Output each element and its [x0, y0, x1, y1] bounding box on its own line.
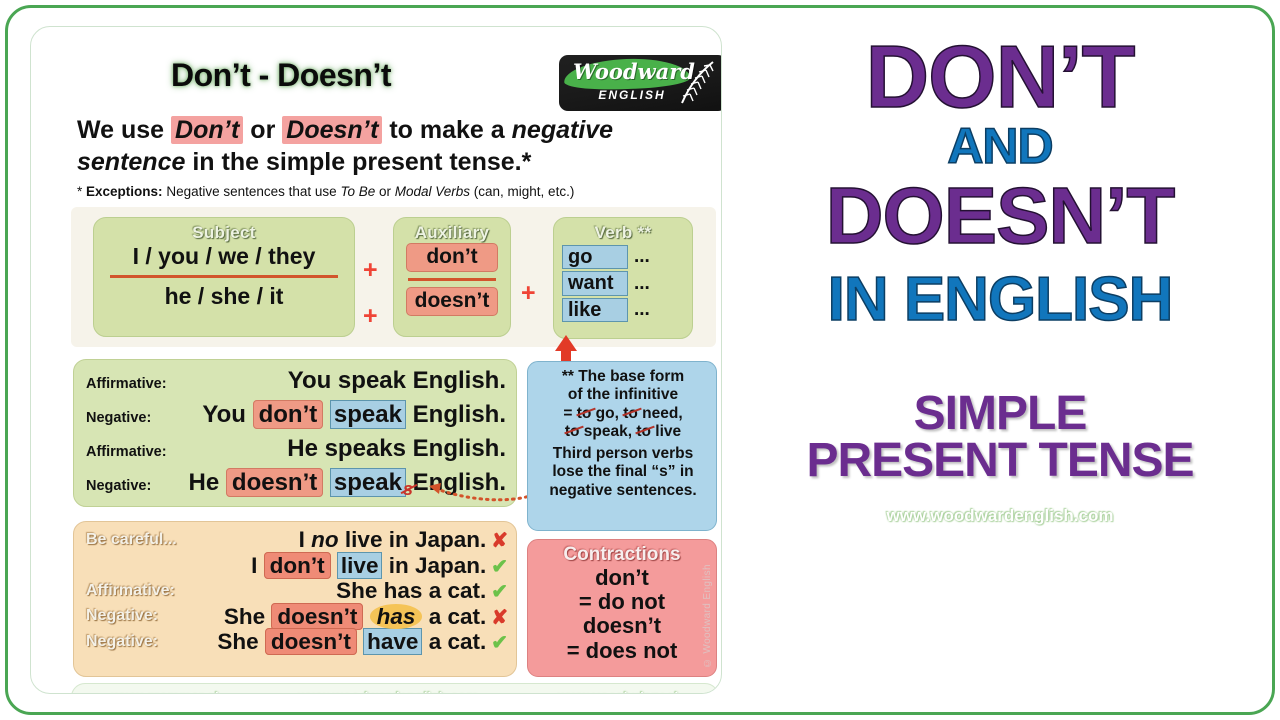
auxiliary-doesnt: doesn’t	[406, 287, 498, 316]
careful-row: Be careful... I no live in Japan. ✘	[86, 527, 508, 553]
be-careful-heading: Be careful...	[86, 531, 177, 549]
careful-label: Negative:	[86, 607, 158, 625]
exceptions-label: Exceptions:	[86, 184, 163, 199]
example-text: He speaks English.	[287, 435, 506, 463]
card-title: Don’t - Doesn’t	[31, 57, 531, 94]
auxiliary-dont: don’t	[406, 243, 498, 272]
intro-highlight-doesnt: Doesn’t	[282, 116, 382, 144]
plus-sign-1: +	[363, 256, 378, 285]
careful-aux: doesn’t	[265, 628, 357, 655]
auxiliary-heading: Auxiliary	[394, 218, 510, 243]
dotted-arrow-icon	[415, 475, 535, 505]
subject-box: Subject I / you / we / they he / she / i…	[93, 217, 355, 337]
example-text: You don’t speak English.	[202, 401, 506, 429]
careful-row: Negative: She doesn’t have a cat. ✔	[86, 629, 508, 655]
right-title-panel: DON’T AND DOESN’T IN ENGLISH SIMPLE PRES…	[740, 26, 1260, 694]
note-end-1: need,	[638, 405, 683, 422]
note-line2: of the infinitive	[537, 386, 709, 404]
subject-divider	[110, 275, 338, 278]
verb-heading: Verb **	[554, 218, 692, 243]
verb-box: Verb ** go ... want ... like ...	[553, 217, 693, 339]
intro-part3: to make a	[382, 116, 511, 144]
intro-part1: We use	[77, 116, 171, 144]
card-footer: www.grammar.cl www.woodwardenglish.com w…	[71, 683, 719, 694]
example-verb: speak	[330, 468, 406, 497]
footer-link-grammar[interactable]: www.grammar.cl	[112, 690, 219, 695]
example-pre: He	[189, 469, 226, 496]
contractions-heading: Contractions	[528, 540, 716, 566]
auxiliary-divider	[408, 278, 496, 281]
note-eq: =	[563, 405, 576, 422]
intro-highlight-dont: Don’t	[171, 116, 243, 144]
note-end-2: live	[651, 423, 681, 440]
verb-word-want: want	[562, 271, 628, 295]
subject-heading: Subject	[94, 218, 354, 243]
careful-text: She doesn’t has a cat.	[224, 604, 486, 630]
title-and: AND	[740, 122, 1260, 171]
example-post: English.	[406, 401, 506, 428]
title-doesnt: DOESN’T	[740, 177, 1260, 255]
footer-link-woodwardenglish[interactable]: www.woodwardenglish.com	[298, 690, 478, 695]
careful-aux: doesn’t	[271, 603, 363, 630]
example-verb: speak	[330, 400, 406, 429]
structure-diagram: Subject I / you / we / they he / she / i…	[71, 207, 716, 347]
example-label: Affirmative:	[86, 376, 167, 392]
verb-dots-1: ...	[634, 246, 650, 268]
note-line1: ** The base form	[537, 368, 709, 386]
exceptions-text2: or	[375, 184, 395, 199]
careful-pre: I	[251, 553, 264, 578]
auxiliary-box: Auxiliary don’t doesn’t	[393, 217, 511, 337]
contraction-dont: don’t	[528, 566, 716, 590]
example-label: Affirmative:	[86, 444, 167, 460]
careful-text: I don’t live in Japan.	[251, 553, 486, 579]
careful-mid: live in Japan.	[339, 527, 487, 552]
example-aux: don’t	[253, 400, 324, 429]
exceptions-star: *	[77, 184, 82, 199]
subtitle-simple: SIMPLE	[740, 390, 1260, 437]
careful-text: She has a cat.	[336, 578, 486, 604]
careful-label: Affirmative:	[86, 582, 175, 600]
exceptions-text3: (can, might, etc.)	[470, 184, 574, 199]
exceptions-modal: Modal Verbs	[395, 184, 470, 199]
careful-em: no	[311, 527, 339, 552]
copyright-notice: © Woodward English	[702, 564, 713, 668]
example-aux: doesn’t	[226, 468, 323, 497]
verb-item: want ...	[562, 271, 692, 295]
exceptions-tobe: To Be	[340, 184, 375, 199]
be-careful-block: Be careful... I no live in Japan. ✘ I do…	[73, 521, 517, 677]
verb-dots-2: ...	[634, 273, 650, 295]
example-row: Affirmative: You speak English.	[86, 367, 506, 401]
careful-row: Negative: She doesn’t has a cat. ✘	[86, 604, 508, 630]
careful-text: I no live in Japan.	[299, 527, 487, 553]
careful-pre: She	[217, 629, 265, 654]
careful-row: Affirmative: She has a cat. ✔	[86, 578, 508, 604]
subject-row-singular: he / she / it	[94, 283, 354, 310]
contraction-doesnt-expanded: = does not	[528, 639, 716, 663]
infinitive-note: ** The base form of the infinitive = to …	[527, 361, 717, 531]
check-icon: ✔	[491, 579, 508, 604]
verb-dots-3: ...	[634, 299, 650, 321]
check-icon: ✔	[491, 630, 508, 655]
example-label: Negative:	[86, 410, 151, 426]
careful-text: She doesn’t have a cat.	[217, 629, 486, 655]
poster-root: Don’t - Doesn’t Woodward ENGLISH We use …	[0, 0, 1280, 720]
woodward-english-logo: Woodward ENGLISH	[559, 55, 722, 111]
note-line7: negative sentences.	[537, 482, 709, 500]
struck-to-2: to	[623, 405, 638, 422]
contraction-doesnt: doesn’t	[528, 614, 716, 638]
verb-item: like ...	[562, 298, 692, 322]
title-in-english: IN ENGLISH	[740, 270, 1260, 331]
check-icon: ✔	[491, 554, 508, 579]
example-row: Affirmative: He speaks English.	[86, 435, 506, 469]
example-text: You speak English.	[288, 367, 506, 395]
careful-pre: She	[224, 604, 272, 629]
title-dont: DON’T	[740, 34, 1260, 120]
careful-label: Negative:	[86, 633, 158, 651]
struck-out-s: s	[403, 479, 413, 500]
careful-aux: don’t	[264, 552, 331, 579]
note-line5: Third person verbs	[537, 445, 709, 463]
careful-post: a cat.	[422, 604, 486, 629]
careful-row: I don’t live in Japan. ✔	[86, 553, 508, 579]
verb-word-like: like	[562, 298, 628, 322]
verb-word-go: go	[562, 245, 628, 269]
cross-icon: ✘	[491, 605, 508, 630]
struck-to-3: to	[565, 423, 580, 440]
exceptions-note: * Exceptions: Negative sentences that us…	[77, 184, 707, 199]
plus-sign-3: +	[521, 279, 536, 308]
example-label: Negative:	[86, 478, 151, 494]
intro-part2: or	[243, 116, 282, 144]
cross-icon: ✘	[491, 528, 508, 553]
subject-row-plural: I / you / we / they	[94, 243, 354, 270]
lesson-card: Don’t - Doesn’t Woodward ENGLISH We use …	[30, 26, 722, 694]
contraction-dont-expanded: = do not	[528, 590, 716, 614]
footer-link-vocabulary[interactable]: www.vocabulary.cl	[558, 690, 678, 695]
plus-sign-2: +	[363, 302, 378, 331]
intro-part4: in the simple present tense.*	[185, 148, 531, 176]
careful-pre: I	[299, 527, 312, 552]
note-line6: lose the final “s” in	[537, 463, 709, 481]
right-panel-website[interactable]: www.woodwardenglish.com	[740, 506, 1260, 526]
note-line3: = to go, to need,	[537, 405, 709, 423]
careful-verb: live	[337, 552, 383, 579]
exceptions-text1: Negative sentences that use	[163, 184, 341, 199]
careful-wrong-verb: has	[370, 604, 423, 629]
example-row: Negative: You don’t speak English.	[86, 401, 506, 435]
note-mid-2: speak,	[579, 423, 636, 440]
verb-item: go ...	[562, 245, 692, 269]
fern-leaf-icon	[669, 57, 721, 109]
intro-sentence: We use Don’t or Doesn’t to make a negati…	[77, 115, 695, 178]
note-line4: to speak, to live	[537, 423, 709, 441]
contractions-box: Contractions don’t = do not doesn’t = do…	[527, 539, 717, 677]
careful-post: a cat.	[422, 629, 486, 654]
careful-verb: have	[363, 628, 422, 655]
struck-to-1: to	[577, 405, 592, 422]
example-pre: You	[202, 401, 252, 428]
subtitle-present-tense: PRESENT TENSE	[740, 437, 1260, 484]
note-mid-1: go,	[591, 405, 623, 422]
struck-to-4: to	[636, 423, 651, 440]
careful-post: in Japan.	[382, 553, 486, 578]
